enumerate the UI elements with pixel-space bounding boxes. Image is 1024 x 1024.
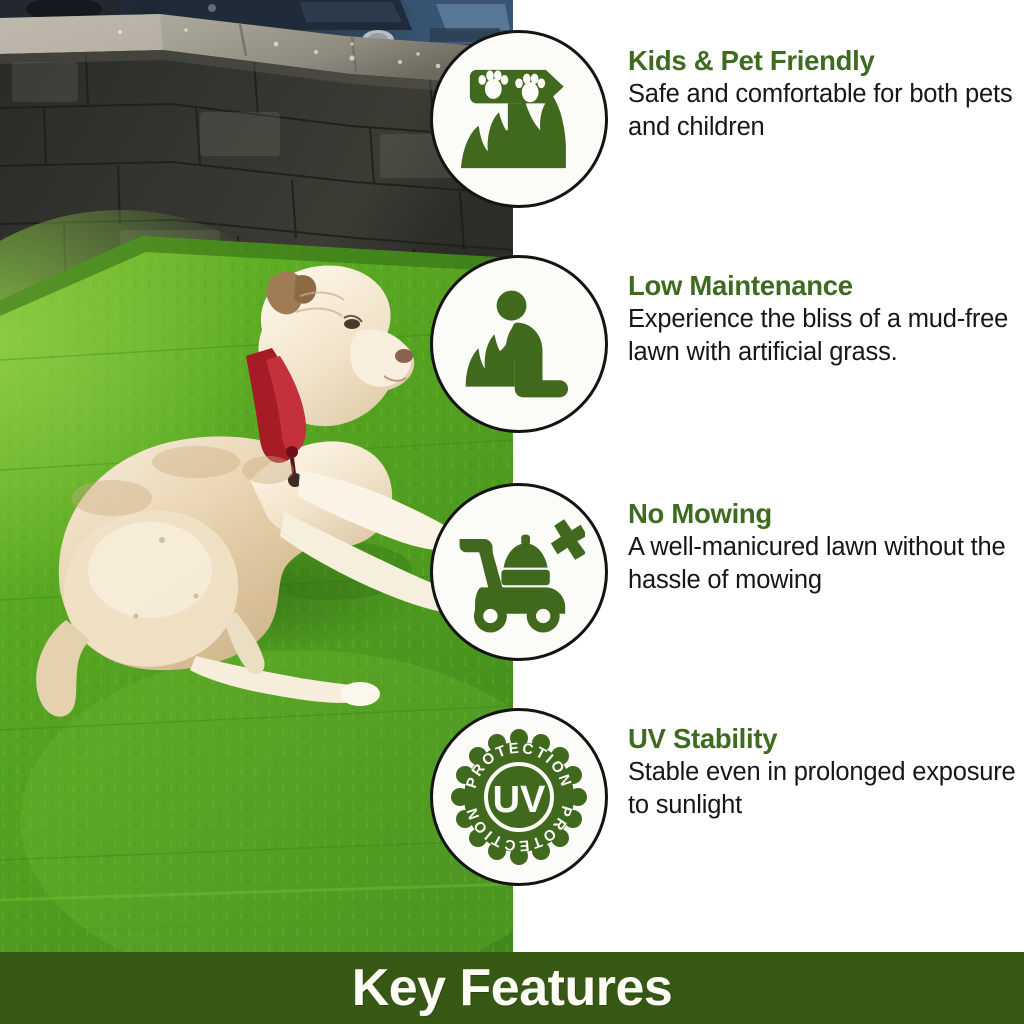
feature-description: Experience the bliss of a mud-free lawn … [628, 303, 1018, 369]
feature-text-block: Low Maintenance Experience the bliss of … [628, 271, 1018, 369]
lawn-mower-crossed-out-icon [430, 483, 608, 661]
uv-protection-badge-icon: UV PROTECTION PROTECTION [430, 708, 608, 886]
person-tending-grass-icon [430, 255, 608, 433]
feature-item-uv-stability[interactable]: UV PROTECTION PROTECTION UV Stability St… [430, 708, 1024, 886]
feature-title: UV Stability [628, 724, 1018, 754]
footer-title: Key Features [352, 962, 673, 1014]
footer-banner: Key Features [0, 952, 1024, 1024]
feature-item-no-mowing[interactable]: No Mowing A well-manicured lawn without … [430, 483, 1024, 661]
feature-title: No Mowing [628, 499, 1018, 529]
paw-sign-grass-icon [430, 30, 608, 208]
feature-text-block: UV Stability Stable even in prolonged ex… [628, 724, 1018, 822]
infographic-canvas: Kids & Pet Friendly Safe and comfortable… [0, 0, 1024, 1024]
feature-text-block: Kids & Pet Friendly Safe and comfortable… [628, 46, 1018, 144]
uv-badge-center-label: UV [493, 779, 546, 821]
feature-item-kids-pet-friendly[interactable]: Kids & Pet Friendly Safe and comfortable… [430, 30, 1024, 208]
feature-text-block: No Mowing A well-manicured lawn without … [628, 499, 1018, 597]
feature-item-low-maintenance[interactable]: Low Maintenance Experience the bliss of … [430, 255, 1024, 433]
key-features-list: Kids & Pet Friendly Safe and comfortable… [430, 0, 1024, 952]
feature-description: A well-manicured lawn without the hassle… [628, 531, 1018, 597]
feature-description: Stable even in prolonged exposure to sun… [628, 756, 1018, 822]
feature-title: Low Maintenance [628, 271, 1018, 301]
feature-title: Kids & Pet Friendly [628, 46, 1018, 76]
feature-description: Safe and comfortable for both pets and c… [628, 78, 1018, 144]
